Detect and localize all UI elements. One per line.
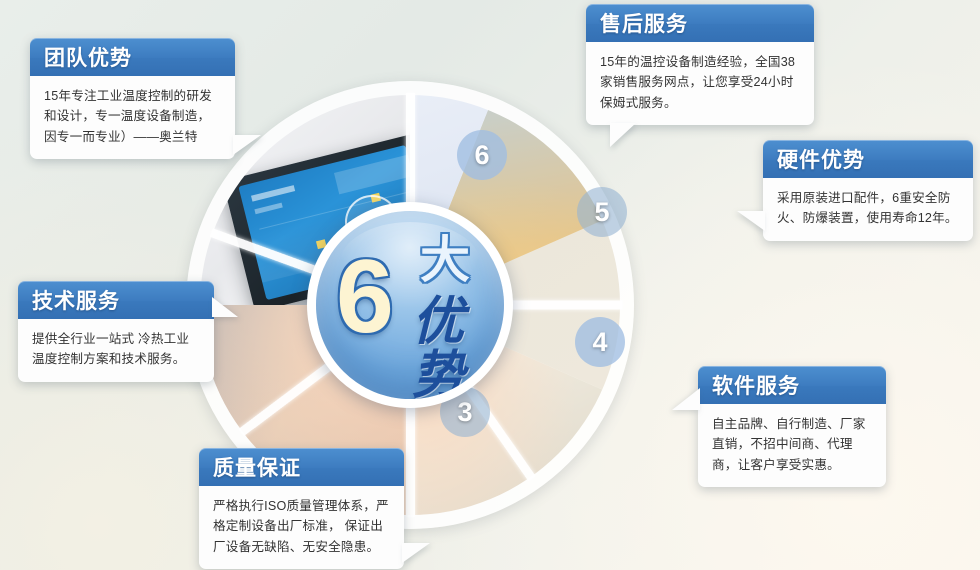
callout-after-sales-text: 15年的温控设备制造经验，全国38家销售服务网点，让您享受24小时保姆式服务。 [586,42,814,125]
callout-team-text: 15年专注工业温度控制的研发和设计，专一温度设备制造，因专一而专业）——奥兰特 [30,76,235,159]
callout-tech-service[interactable]: 技术服务 提供全行业一站式 冷热工业温度控制方案和技术服务。 [18,281,214,382]
segment-number-5-label: 5 [594,197,609,228]
center-badge-text: 6 大 优势 [316,211,504,399]
callout-after-sales-header: 售后服务 [586,4,814,42]
callout-tech-text: 提供全行业一站式 冷热工业温度控制方案和技术服务。 [18,319,214,382]
callout-hardware-text: 采用原装进口配件，6重安全防火、防爆装置，使用寿命12年。 [763,178,973,241]
callout-quality-header: 质量保证 [199,448,404,486]
infographic-canvas: 1 2 3 4 5 6 6 大 优势 [0,0,980,570]
segment-number-6-label: 6 [474,140,489,171]
callout-hardware-advantage[interactable]: 硬件优势 采用原装进口配件，6重安全防火、防爆装置，使用寿命12年。 [763,140,973,241]
center-badge[interactable]: 6 大 优势 [307,202,513,408]
callout-quality-pointer [402,543,430,563]
callout-team-title: 团队优势 [44,42,132,72]
center-number: 6 [336,245,394,349]
callout-hardware-title: 硬件优势 [777,144,865,174]
segment-number-4-label: 4 [592,327,607,358]
callout-after-sales-pointer [610,123,636,147]
center-word: 优势 [412,295,504,399]
callout-software-text: 自主品牌、自行制造、厂家直销，不招中间商、代理商，让客户享受实惠。 [698,404,886,487]
callout-after-sales[interactable]: 售后服务 15年的温控设备制造经验，全国38家销售服务网点，让您享受24小时保姆… [586,4,814,125]
callout-software-title: 软件服务 [712,370,800,400]
callout-software-header: 软件服务 [698,366,886,404]
callout-team-header: 团队优势 [30,38,235,76]
callout-after-sales-title: 售后服务 [600,8,688,38]
segment-number-4[interactable]: 4 [575,317,625,367]
callout-hardware-header: 硬件优势 [763,140,973,178]
callout-tech-title: 技术服务 [32,285,120,315]
segment-number-6[interactable]: 6 [457,130,507,180]
callout-quality-assurance[interactable]: 质量保证 严格执行ISO质量管理体系，严格定制设备出厂标准， 保证出厂设备无缺陷… [199,448,404,569]
callout-hardware-pointer [737,211,765,231]
callout-tech-pointer [212,297,238,317]
center-badge-inner: 6 大 优势 [316,211,504,399]
callout-tech-header: 技术服务 [18,281,214,319]
center-unit: 大 [420,235,470,285]
callout-team-pointer [233,135,261,155]
callout-quality-title: 质量保证 [213,452,301,482]
segment-number-5[interactable]: 5 [577,187,627,237]
callout-team-advantage[interactable]: 团队优势 15年专注工业温度控制的研发和设计，专一温度设备制造，因专一而专业）—… [30,38,235,159]
callout-software-service[interactable]: 软件服务 自主品牌、自行制造、厂家直销，不招中间商、代理商，让客户享受实惠。 [698,366,886,487]
callout-quality-text: 严格执行ISO质量管理体系，严格定制设备出厂标准， 保证出厂设备无缺陷、无安全隐… [199,486,404,569]
segment-number-3-label: 3 [457,397,472,428]
callout-software-pointer [672,388,700,410]
